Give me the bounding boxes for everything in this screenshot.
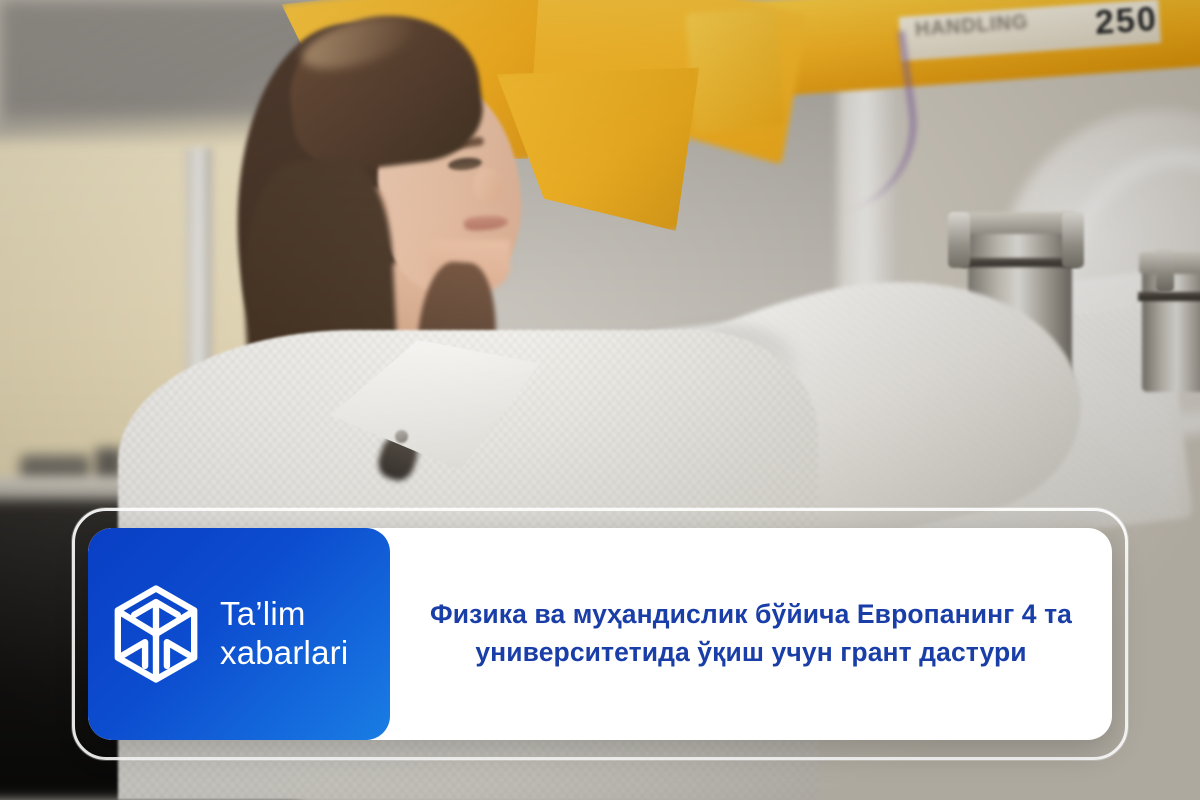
crane-post bbox=[186, 148, 212, 378]
cylinder-bolt bbox=[1156, 246, 1174, 292]
crane-purple-cable bbox=[759, 31, 928, 220]
cylinder-bolt bbox=[948, 212, 970, 268]
banner-card: Ta’lim xabarlari Физика ва муҳандислик б… bbox=[88, 528, 1112, 740]
brand-logo-tile[interactable]: Ta’lim xabarlari bbox=[88, 528, 390, 740]
headline: Физика ва муҳандислик бўйича Европанинг … bbox=[430, 596, 1072, 671]
brand-name: Ta’lim xabarlari bbox=[220, 595, 348, 673]
brand-name-line2: xabarlari bbox=[220, 634, 348, 673]
nose bbox=[474, 168, 504, 202]
banner-image: HANDLING 250 bbox=[0, 0, 1200, 800]
cube-box-logo-icon bbox=[110, 584, 202, 684]
brand-name-line1: Ta’lim bbox=[220, 595, 348, 634]
headline-area: Физика ва муҳандислик бўйича Европанинг … bbox=[390, 528, 1112, 740]
headline-line-1: Физика ва муҳандислик бўйича Европанинг … bbox=[430, 596, 1072, 634]
headline-line-2: университетида ўқиш учун грант дастури bbox=[430, 634, 1072, 672]
cylinder-bolt bbox=[1062, 212, 1084, 268]
crane-capacity-text: 250 bbox=[1094, 2, 1159, 40]
lab-coat-button bbox=[395, 430, 408, 443]
